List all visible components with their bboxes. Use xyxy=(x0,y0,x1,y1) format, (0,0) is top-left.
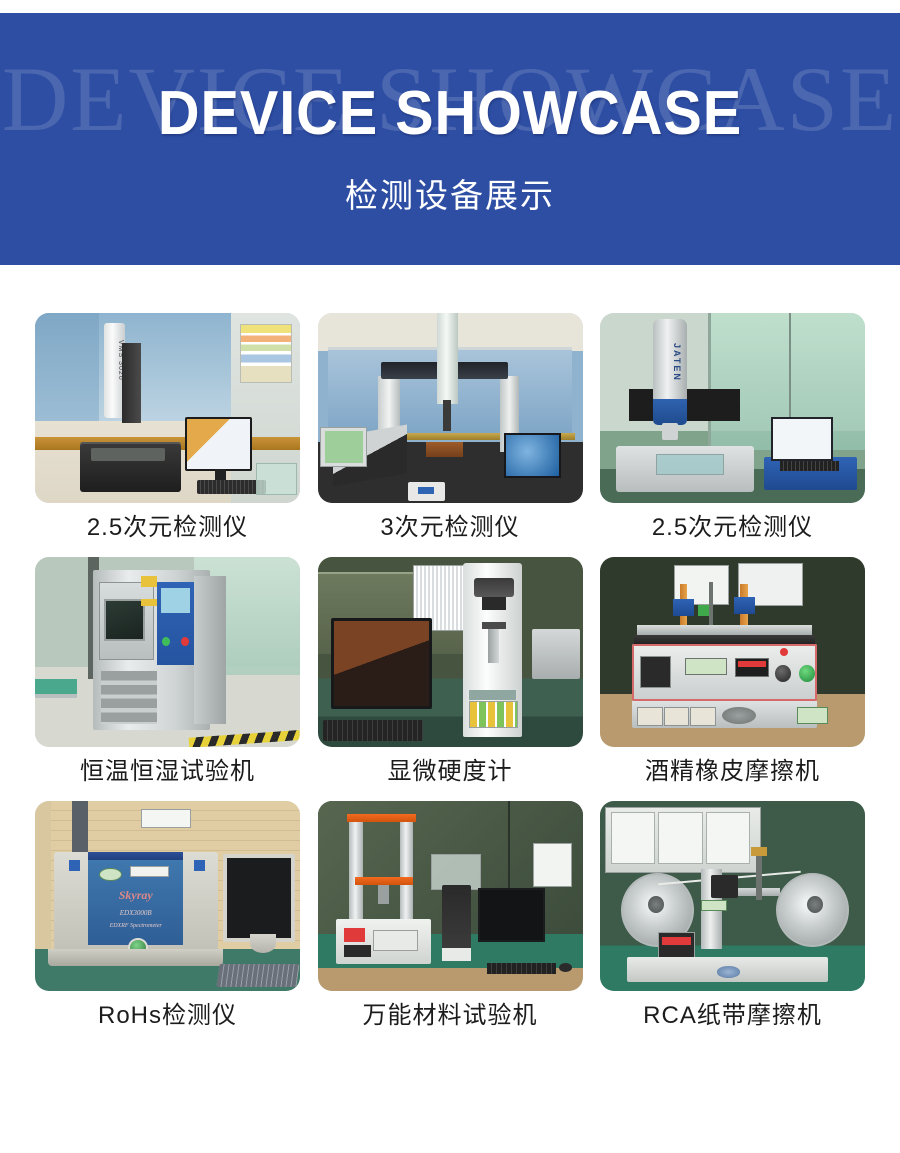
optical-lens xyxy=(662,423,678,440)
side-indicator-left xyxy=(69,860,80,871)
machine-brand-label: JATEN xyxy=(658,336,682,389)
photo-scene xyxy=(318,557,583,747)
keyboard xyxy=(780,461,838,471)
gallery-item[interactable]: 3次元检测仪 xyxy=(318,313,583,543)
warning-label-2 xyxy=(141,599,157,607)
device-caption: 3次元检测仪 xyxy=(318,513,583,543)
device-caption: 显微硬度计 xyxy=(318,757,583,787)
wall-document-1 xyxy=(611,812,655,863)
warning-label xyxy=(141,576,157,587)
machine-base xyxy=(48,949,223,966)
window-blind-left xyxy=(35,313,99,421)
gallery-item[interactable]: RCA纸带摩擦机 xyxy=(600,801,865,1031)
gallery-item[interactable]: 显微硬度计 xyxy=(318,557,583,787)
display-screen xyxy=(469,690,517,700)
machine-sublabel: EDXRF Spectrometer xyxy=(93,923,178,929)
device-caption: 2.5次元检测仪 xyxy=(600,513,865,543)
monitor-stand xyxy=(250,934,277,953)
machine-brand-label: Skyray xyxy=(93,888,178,903)
warning-label-2 xyxy=(664,707,690,726)
warning-label-3 xyxy=(690,707,716,726)
work-bench xyxy=(35,679,77,698)
photo-scene xyxy=(35,557,300,747)
photo-scene: Skyray EDX3000B EDXRF Spectrometer xyxy=(35,801,300,991)
monitor xyxy=(478,888,546,941)
wall-notice xyxy=(141,809,191,828)
banner-inner: DEVICE SHOWCASE DEVICE SHOWCASE 检测设备展示 xyxy=(0,13,900,265)
start-button xyxy=(799,665,815,682)
photo-scene xyxy=(600,801,865,991)
photo-scene: VMS 3020 xyxy=(35,313,300,503)
device-photo-micro-hardness-tester[interactable] xyxy=(318,557,583,747)
gallery-item[interactable]: JATEN 2.5次元检测仪 xyxy=(600,313,865,543)
slide-rail xyxy=(637,625,812,635)
control-keypad xyxy=(469,701,519,728)
keyboard xyxy=(323,720,424,741)
brass-weight xyxy=(751,847,767,857)
cmm-probe xyxy=(443,400,451,430)
weight-block-right xyxy=(734,597,755,614)
specimen-grip xyxy=(378,885,389,904)
gallery-item[interactable]: 恒温恒湿试验机 xyxy=(35,557,300,787)
floor-hazard-tape xyxy=(188,730,300,747)
reel-hub-right xyxy=(807,896,823,913)
keyboard xyxy=(487,963,556,974)
chamber-viewing-window xyxy=(104,599,145,641)
device-photo-rohs-edxrf-spectrometer[interactable]: Skyray EDX3000B EDXRF Spectrometer xyxy=(35,801,300,991)
top-crossbeam xyxy=(347,814,416,822)
monitor xyxy=(331,618,432,710)
test-frame-column-right xyxy=(400,816,413,924)
device-caption: 酒精橡皮摩擦机 xyxy=(600,757,865,787)
pc-tower xyxy=(442,885,471,961)
monitor xyxy=(185,417,253,470)
drive-motor xyxy=(711,875,738,898)
device-photo-vision-measuring-machine-vms3020[interactable]: VMS 3020 xyxy=(35,313,300,503)
device-photo-vision-measuring-machine-jaten[interactable]: JATEN xyxy=(600,313,865,503)
reel-hub-left xyxy=(648,896,664,913)
side-equipment xyxy=(532,629,580,678)
digital-readout xyxy=(735,658,769,677)
photo-scene xyxy=(600,557,865,747)
calibration-label xyxy=(701,900,727,912)
device-photo-alcohol-rubber-friction-tester[interactable] xyxy=(600,557,865,747)
monitor xyxy=(223,854,295,942)
gallery-item[interactable]: 万能材料试验机 xyxy=(318,801,583,1031)
monitor xyxy=(771,417,833,461)
photo-scene xyxy=(318,801,583,991)
device-photo-coordinate-measuring-machine[interactable] xyxy=(318,313,583,503)
weight-block-left xyxy=(673,599,694,616)
device-gallery-grid: VMS 3020 2.5次元检测仪 xyxy=(35,313,865,1031)
light-shield-left xyxy=(629,389,653,421)
page-subtitle: 检测设备展示 xyxy=(0,176,900,216)
stage-glass xyxy=(91,448,165,461)
photo-scene xyxy=(318,313,583,503)
page-title: DEVICE SHOWCASE xyxy=(32,83,869,145)
z-axis-head xyxy=(122,343,141,423)
objective-turret xyxy=(474,578,514,597)
vertical-rod xyxy=(756,850,761,899)
wall-document-3 xyxy=(706,812,750,863)
control-display xyxy=(373,930,417,951)
chamber-vents xyxy=(101,671,157,724)
counter-display xyxy=(685,658,727,675)
page-header-banner: DEVICE SHOWCASE DEVICE SHOWCASE 检测设备展示 xyxy=(0,13,900,265)
wall-document xyxy=(533,843,572,887)
wall-document-2 xyxy=(658,812,702,863)
photo-scene: JATEN xyxy=(600,313,865,503)
device-showcase-page: DEVICE SHOWCASE DEVICE SHOWCASE 检测设备展示 V… xyxy=(0,13,900,1153)
stop-button xyxy=(181,637,189,647)
device-photo-rca-paper-tape-abrasion-tester[interactable] xyxy=(600,801,865,991)
emergency-stop-button xyxy=(344,928,365,941)
device-caption: 万能材料试验机 xyxy=(318,1001,583,1031)
objective-lens xyxy=(482,597,506,610)
gallery-item[interactable]: VMS 3020 2.5次元检测仪 xyxy=(35,313,300,543)
joystick-controller xyxy=(408,482,445,501)
machine-model-label: EDX3000B xyxy=(93,909,178,917)
wall-charts xyxy=(240,324,292,383)
calibration-tag xyxy=(797,707,828,724)
warning-label-1 xyxy=(637,707,663,726)
side-indicator-right xyxy=(194,860,205,871)
device-caption: 2.5次元检测仪 xyxy=(35,513,300,543)
moving-crosshead xyxy=(355,877,413,885)
manufacturer-logo xyxy=(717,966,741,977)
elevating-post xyxy=(488,629,499,663)
gallery-item[interactable]: Skyray EDX3000B EDXRF Spectrometer RoHs检… xyxy=(35,801,300,1031)
light-shield-right xyxy=(687,389,740,421)
test-frame-column-left xyxy=(349,816,362,924)
mouse xyxy=(559,963,572,973)
specimen-anvil xyxy=(482,622,506,630)
device-caption: RCA纸带摩擦机 xyxy=(600,1001,865,1031)
analog-meter xyxy=(640,656,671,688)
indicator-lamp xyxy=(780,648,788,656)
monitor xyxy=(504,433,561,479)
cmm-z-column xyxy=(437,313,458,404)
control-switch xyxy=(344,945,371,956)
device-caption: RoHs检测仪 xyxy=(35,1001,300,1031)
workpiece xyxy=(426,442,463,457)
glass-panel xyxy=(256,463,298,495)
control-panel xyxy=(157,582,194,666)
control-cabinet xyxy=(320,427,367,467)
device-photo-universal-material-testing-machine[interactable] xyxy=(318,801,583,991)
measuring-stage xyxy=(656,454,724,475)
vertical-post xyxy=(709,582,713,630)
chamber-side-panel xyxy=(194,576,226,724)
gallery-item[interactable]: 酒精橡皮摩擦机 xyxy=(600,557,865,787)
machine-model-label: VMS 3020 xyxy=(105,332,124,389)
tower-blue-section xyxy=(653,399,687,426)
keyboard xyxy=(216,964,299,987)
device-caption: 恒温恒湿试验机 xyxy=(35,757,300,787)
device-photo-temperature-humidity-test-chamber[interactable] xyxy=(35,557,300,747)
calibration-sticker xyxy=(99,868,122,881)
monitor-stand xyxy=(215,469,226,480)
asset-label xyxy=(130,866,169,878)
